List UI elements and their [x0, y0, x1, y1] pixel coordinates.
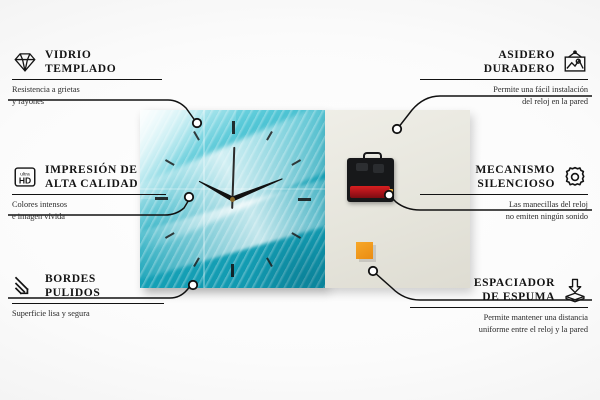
clock-tick [233, 198, 311, 200]
feature-description: Permite una fácil instalación del reloj … [420, 84, 588, 106]
clock-movement [347, 158, 394, 202]
wall-hanger-icon [562, 49, 588, 75]
foam-spacer-icon [562, 277, 588, 303]
feature-title: BORDES PULIDOS [45, 272, 100, 300]
feature-description: Las manecillas del reloj no emiten ningú… [420, 199, 588, 221]
clock-center-cap [230, 197, 235, 202]
feature-mecanismo-silencioso: MECANISMO SILENCIOSO Las manecillas del … [420, 163, 588, 222]
svg-text:HD: HD [19, 176, 31, 186]
divider [12, 303, 164, 304]
ultra-hd-icon: ultra HD [12, 164, 38, 190]
feature-title: ASIDERO DURADERO [484, 48, 555, 76]
foam-spacer-pad [356, 242, 373, 259]
feature-description: Resistencia a grietas y rayones [12, 84, 162, 106]
divider [12, 194, 166, 195]
infographic-canvas: VIDRIO TEMPLADO Resistencia a grietas y … [0, 0, 600, 400]
feature-title: IMPRESIÓN DE ALTA CALIDAD [45, 163, 138, 191]
feature-title: MECANISMO SILENCIOSO [475, 163, 555, 191]
feature-impresion-alta-calidad: ultra HD IMPRESIÓN DE ALTA CALIDAD Color… [12, 163, 166, 222]
feature-description: Permite mantener una distancia uniforme … [410, 312, 588, 334]
gear-icon [562, 164, 588, 190]
feature-description: Colores intensos e imagen vívida [12, 199, 166, 221]
feature-description: Superficie lisa y segura [12, 308, 164, 319]
polished-edges-icon [12, 273, 38, 299]
divider [420, 194, 588, 195]
divider [420, 79, 588, 80]
diamond-icon [12, 49, 38, 75]
divider [410, 307, 588, 308]
clock-tick [232, 199, 234, 277]
feature-title: VIDRIO TEMPLADO [45, 48, 116, 76]
feature-espaciador-de-espuma: ESPACIADOR DE ESPUMA Permite mantener un… [410, 276, 588, 335]
feature-vidrio-templado: VIDRIO TEMPLADO Resistencia a grietas y … [12, 48, 162, 107]
feature-bordes-pulidos: BORDES PULIDOS Superficie lisa y segura [12, 272, 164, 320]
feature-title: ESPACIADOR DE ESPUMA [474, 276, 555, 304]
product-photo-clock-front [140, 110, 325, 288]
feature-asidero-duradero: ASIDERO DURADERO Permite una fácil insta… [420, 48, 588, 107]
clock-tick [155, 198, 233, 200]
battery [350, 186, 390, 198]
divider [12, 79, 162, 80]
